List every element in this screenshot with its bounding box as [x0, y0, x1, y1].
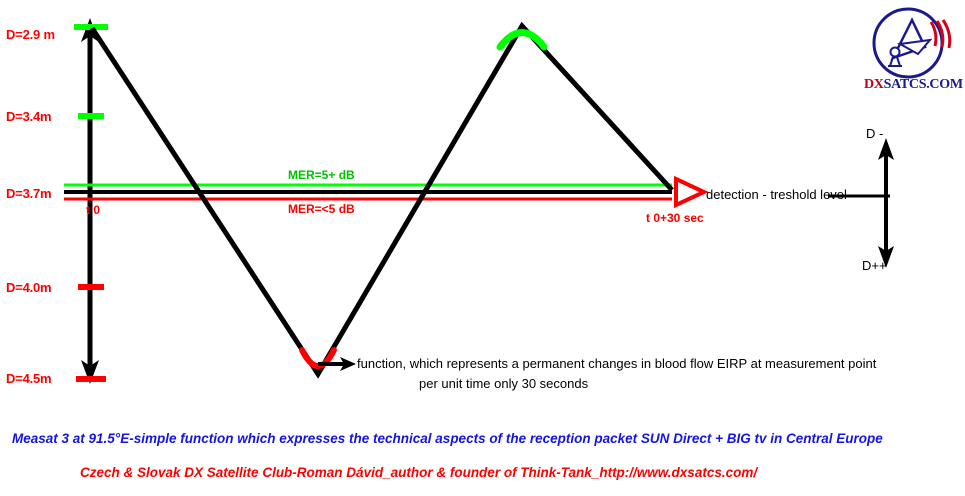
- threshold-marker-triangle-icon: [676, 179, 704, 205]
- y-tick-label-d-4-5: D=4.5m: [6, 372, 51, 385]
- mer-below-label: MER=<5 dB: [288, 203, 355, 215]
- credit-caption: Czech & Slovak DX Satellite Club-Roman D…: [80, 466, 757, 480]
- y-tick-label-d-3-7: D=3.7m: [6, 187, 51, 200]
- y-axis-group: [81, 18, 99, 384]
- right-scale-group: [828, 138, 894, 268]
- y-tick-label-d-4-0: D=4.0m: [6, 281, 51, 294]
- logo-wordmark: DXSATCS.COM: [864, 77, 963, 93]
- logo-dish-hub-icon: [891, 48, 900, 57]
- title-caption: Measat 3 at 91.5°E-simple function which…: [12, 432, 883, 446]
- logo-wordmark-satcs: SATCS.COM: [884, 77, 963, 92]
- diagram-graphics: [0, 0, 965, 496]
- dxsatcs-logo: [874, 9, 950, 77]
- annotation-line-1: function, which represents a permanent c…: [357, 357, 876, 370]
- time-start-label: t 0: [86, 204, 100, 216]
- y-tick-label-d-2-9: D=2.9 m: [6, 28, 55, 41]
- mer-above-label: MER=5+ dB: [288, 169, 355, 181]
- diagram-canvas: D=2.9 m D=3.4m D=3.7m D=4.0m D=4.5m MER=…: [0, 0, 965, 496]
- logo-wordmark-dx: DX: [864, 77, 884, 92]
- right-scale-top-label: D -: [866, 127, 883, 140]
- threshold-lines: [64, 179, 704, 205]
- threshold-marker-label: detection - treshold level: [706, 188, 847, 201]
- y-tick-label-d-3-4: D=3.4m: [6, 110, 51, 123]
- annotation-line-2: per unit time only 30 seconds: [419, 377, 588, 390]
- right-scale-bottom-label: D++: [862, 259, 887, 272]
- time-end-label: t 0+30 sec: [646, 212, 704, 224]
- logo-wave-1-icon: [931, 22, 936, 46]
